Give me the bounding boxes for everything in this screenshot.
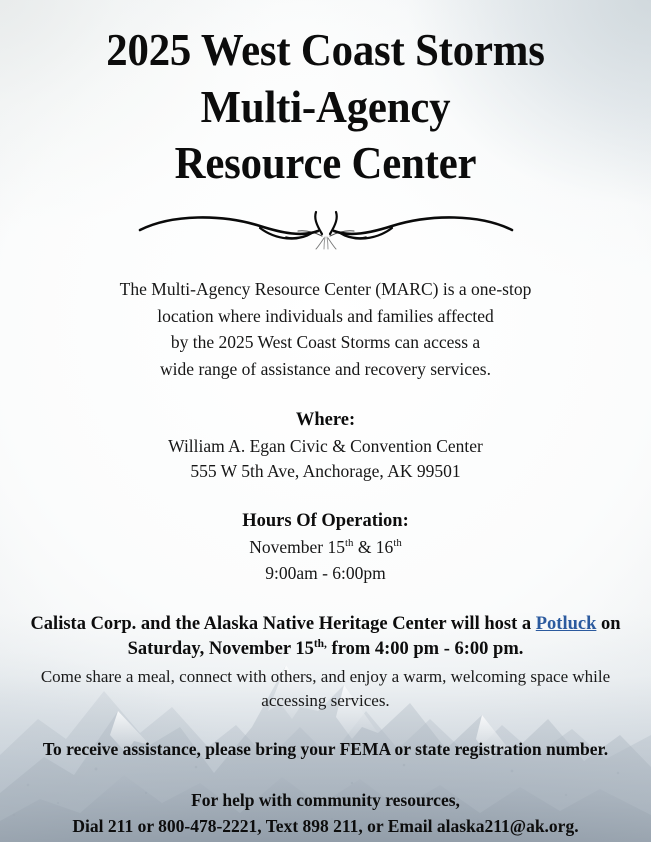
intro-line-4: wide range of assistance and recovery se… xyxy=(14,356,637,383)
hours-heading: Hours Of Operation: xyxy=(14,508,637,535)
potluck-note: Come share a meal, connect with others, … xyxy=(14,665,637,713)
hours-dates-prefix: November 15 xyxy=(249,537,345,557)
hours-times: 9:00am - 6:00pm xyxy=(14,561,637,586)
intro-paragraph: The Multi-Agency Resource Center (MARC) … xyxy=(14,276,637,383)
title-line-2: Multi-Agency xyxy=(36,79,615,136)
title-line-3: Resource Center xyxy=(36,135,615,192)
potluck-lead-before: Calista Corp. and the Alaska Native Heri… xyxy=(30,614,535,634)
intro-line-1: The Multi-Agency Resource Center (MARC) … xyxy=(14,276,637,303)
fema-registration-note: To receive assistance, please bring your… xyxy=(14,737,637,762)
hours-dates-middle: & 16 xyxy=(353,537,393,557)
potluck-second-before: Saturday, November 15 xyxy=(128,639,314,659)
intro-line-2: location where individuals and families … xyxy=(14,303,637,330)
title-line-1: 2025 West Coast Storms xyxy=(36,22,615,79)
potluck-section: Calista Corp. and the Alaska Native Heri… xyxy=(14,612,637,714)
hours-dates: November 15th & 16th xyxy=(14,535,637,560)
footer-line-1: For help with community resources, xyxy=(14,788,637,814)
poster-title: 2025 West Coast Storms Multi-Agency Reso… xyxy=(14,0,637,192)
flourish-divider-icon xyxy=(126,204,526,250)
potluck-lead-after: on xyxy=(596,614,620,634)
hours-section: Hours Of Operation: November 15th & 16th… xyxy=(14,508,637,586)
potluck-second-ordinal: th, xyxy=(314,638,327,650)
hours-dates-ordinal-2: th xyxy=(393,537,401,549)
potluck-link[interactable]: Potluck xyxy=(536,614,597,634)
where-venue: William A. Egan Civic & Convention Cente… xyxy=(14,434,637,459)
potluck-second-line: Saturday, November 15th, from 4:00 pm - … xyxy=(14,637,637,662)
where-address: 555 W 5th Ave, Anchorage, AK 99501 xyxy=(14,459,637,484)
poster-content: 2025 West Coast Storms Multi-Agency Reso… xyxy=(0,0,651,842)
where-section: Where: William A. Egan Civic & Conventio… xyxy=(14,407,637,485)
potluck-note-line-1: Come share a meal, connect with others, … xyxy=(14,665,637,689)
potluck-note-line-2: accessing services. xyxy=(14,689,637,713)
potluck-lead-line: Calista Corp. and the Alaska Native Heri… xyxy=(14,612,637,637)
intro-line-3: by the 2025 West Coast Storms can access… xyxy=(14,329,637,356)
footer-line-2: Dial 211 or 800-478-2221, Text 898 211, … xyxy=(14,814,637,840)
poster-flyer: 2025 West Coast Storms Multi-Agency Reso… xyxy=(0,0,651,842)
potluck-second-after: from 4:00 pm - 6:00 pm. xyxy=(327,639,523,659)
where-heading: Where: xyxy=(14,407,637,434)
footer-contact-section: For help with community resources, Dial … xyxy=(14,788,637,842)
